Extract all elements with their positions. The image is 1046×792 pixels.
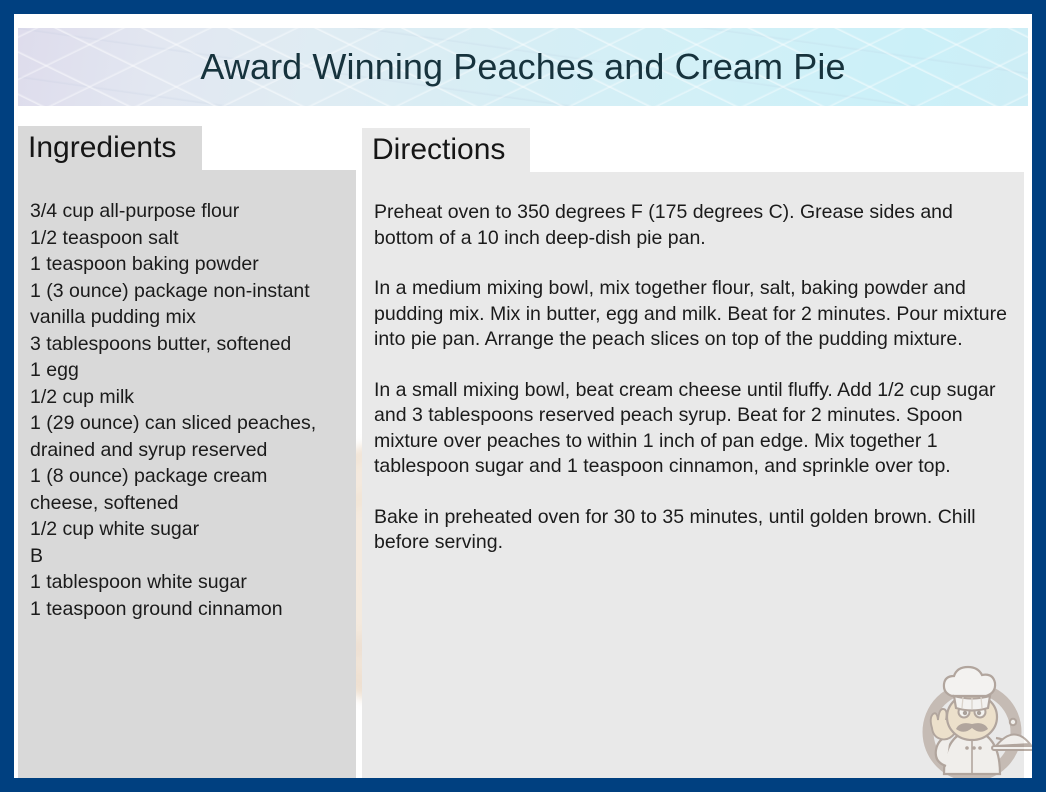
directions-text: Preheat oven to 350 degrees F (175 degre… bbox=[362, 172, 1024, 778]
ingredients-heading: Ingredients bbox=[18, 131, 176, 165]
ingredients-list: 3/4 cup all-purpose flour 1/2 teaspoon s… bbox=[18, 170, 356, 778]
list-item: 1 teaspoon baking powder bbox=[30, 251, 344, 278]
direction-paragraph: Bake in preheated oven for 30 to 35 minu… bbox=[374, 505, 1012, 556]
list-item: 1/2 cup white sugar bbox=[30, 516, 344, 543]
list-item: 1 (8 ounce) package cream bbox=[30, 463, 344, 490]
list-item: vanilla pudding mix bbox=[30, 304, 344, 331]
recipe-card: Award Winning Peaches and Cream Pie bbox=[0, 0, 1046, 792]
list-item: 1 egg bbox=[30, 357, 344, 384]
page-title: Award Winning Peaches and Cream Pie bbox=[18, 46, 1028, 88]
list-item: 1 (3 ounce) package non-instant bbox=[30, 278, 344, 305]
list-item: drained and syrup reserved bbox=[30, 437, 344, 464]
list-item: 1 tablespoon white sugar bbox=[30, 569, 344, 596]
directions-heading: Directions bbox=[362, 133, 505, 167]
list-item: 1 teaspoon ground cinnamon bbox=[30, 596, 344, 623]
ingredients-panel: Ingredients 3/4 cup all-purpose flour 1/… bbox=[18, 126, 356, 778]
directions-panel: Directions Preheat oven to 350 degrees F… bbox=[362, 128, 1024, 778]
list-item: 3 tablespoons butter, softened bbox=[30, 331, 344, 358]
list-item: B bbox=[30, 543, 344, 570]
list-item: cheese, softened bbox=[30, 490, 344, 517]
list-item: 1 (29 ounce) can sliced peaches, bbox=[30, 410, 344, 437]
direction-paragraph: In a small mixing bowl, beat cream chees… bbox=[374, 378, 1012, 480]
title-banner: Award Winning Peaches and Cream Pie bbox=[18, 28, 1028, 106]
list-item: 1/2 teaspoon salt bbox=[30, 225, 344, 252]
ingredients-tab: Ingredients bbox=[18, 126, 202, 170]
direction-paragraph: Preheat oven to 350 degrees F (175 degre… bbox=[374, 200, 1012, 251]
list-item: 3/4 cup all-purpose flour bbox=[30, 198, 344, 225]
direction-paragraph: In a medium mixing bowl, mix together fl… bbox=[374, 276, 1012, 353]
directions-tab: Directions bbox=[362, 128, 530, 172]
ingredients-body: 3/4 cup all-purpose flour 1/2 teaspoon s… bbox=[18, 170, 356, 778]
list-item: 1/2 cup milk bbox=[30, 384, 344, 411]
directions-body: Preheat oven to 350 degrees F (175 degre… bbox=[362, 172, 1024, 778]
